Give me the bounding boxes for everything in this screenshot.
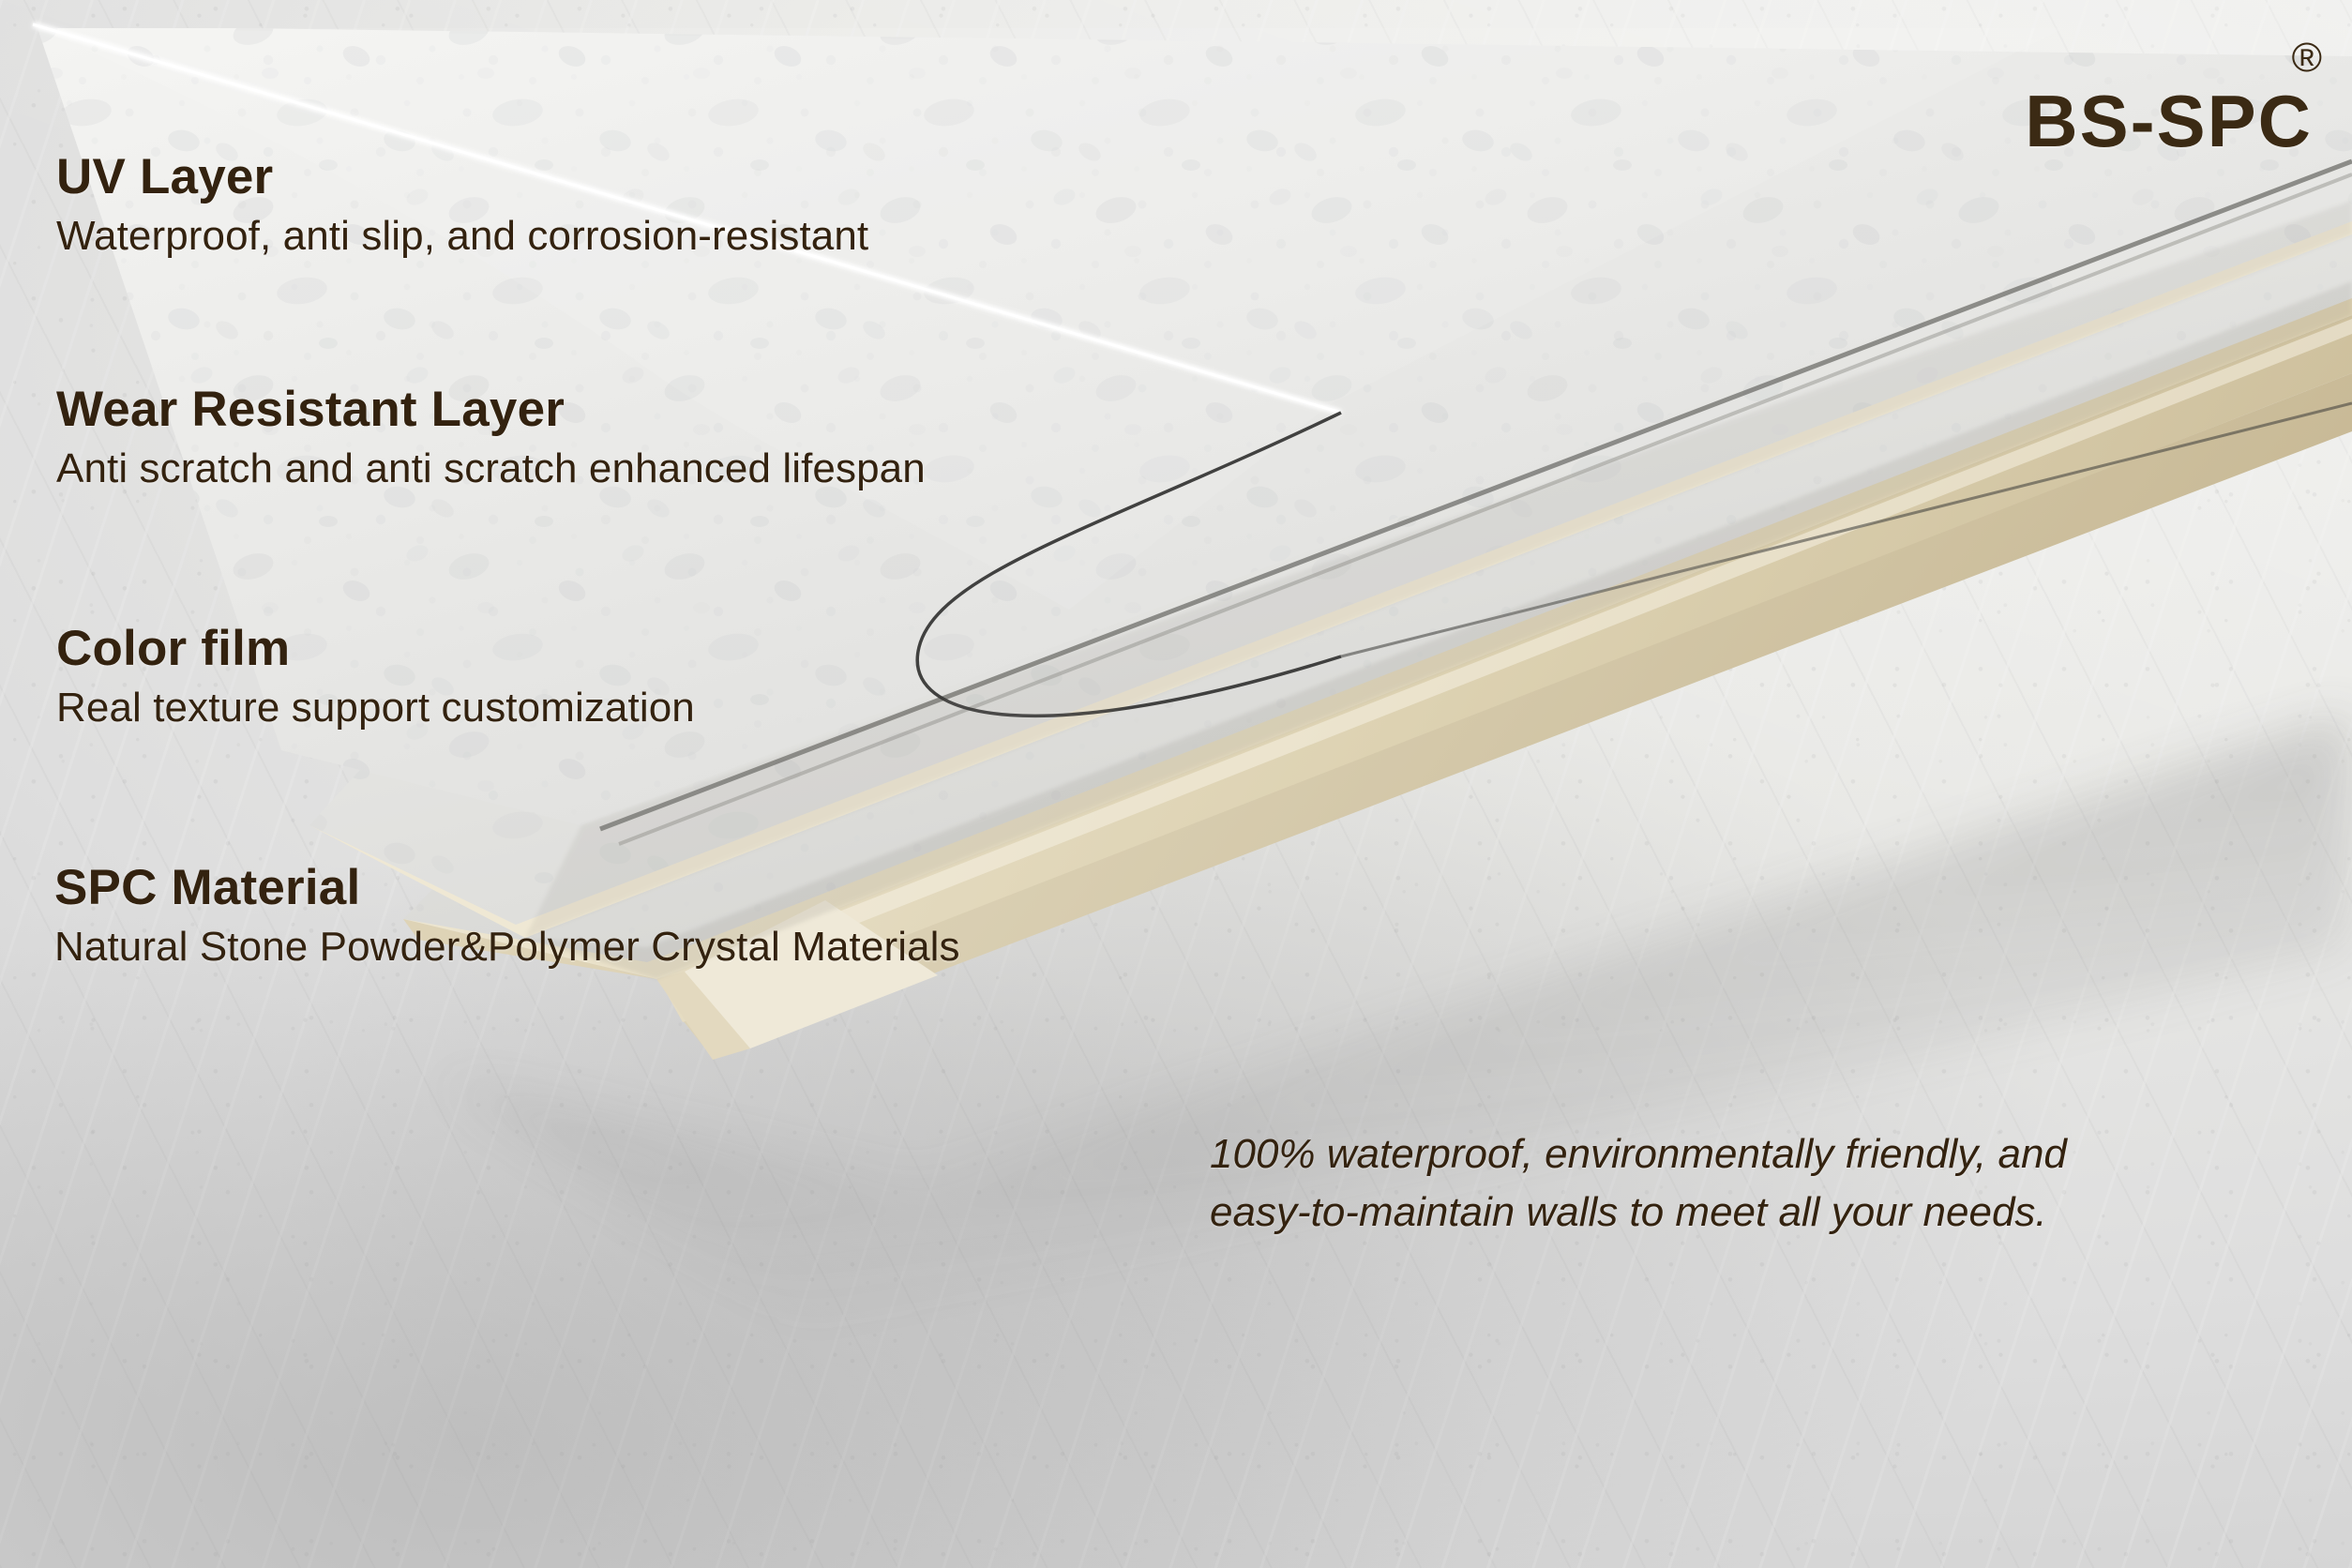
- product-infographic: ® BS-SPC UV Layer Waterproof, anti slip,…: [0, 0, 2352, 1568]
- layer-title: UV Layer: [56, 152, 868, 202]
- layer-title: Wear Resistant Layer: [56, 384, 926, 434]
- layer-description: Real texture support customization: [56, 687, 695, 729]
- tagline-line-2: easy-to-maintain walls to meet all your …: [1210, 1184, 2279, 1242]
- layer-description: Natural Stone Powder&Polymer Crystal Mat…: [54, 927, 960, 968]
- brand-name: BS-SPC: [2025, 84, 2313, 158]
- layer-description: Waterproof, anti slip, and corrosion-res…: [56, 216, 868, 257]
- registered-trademark-symbol: ®: [2025, 38, 2322, 79]
- tagline-line-1: 100% waterproof, environmentally friendl…: [1210, 1125, 2279, 1184]
- brand-logo: ® BS-SPC: [2025, 38, 2333, 158]
- layer-callout-color-film: Color film Real texture support customiz…: [56, 624, 695, 729]
- layer-callout-uv-layer: UV Layer Waterproof, anti slip, and corr…: [56, 152, 868, 257]
- product-tagline: 100% waterproof, environmentally friendl…: [1210, 1125, 2279, 1243]
- layer-title: Color film: [56, 624, 695, 673]
- layer-callout-wear-resistant-layer: Wear Resistant Layer Anti scratch and an…: [56, 384, 926, 490]
- layer-description: Anti scratch and anti scratch enhanced l…: [56, 448, 926, 490]
- layer-title: SPC Material: [54, 863, 960, 912]
- layer-callout-spc-material: SPC Material Natural Stone Powder&Polyme…: [54, 863, 960, 968]
